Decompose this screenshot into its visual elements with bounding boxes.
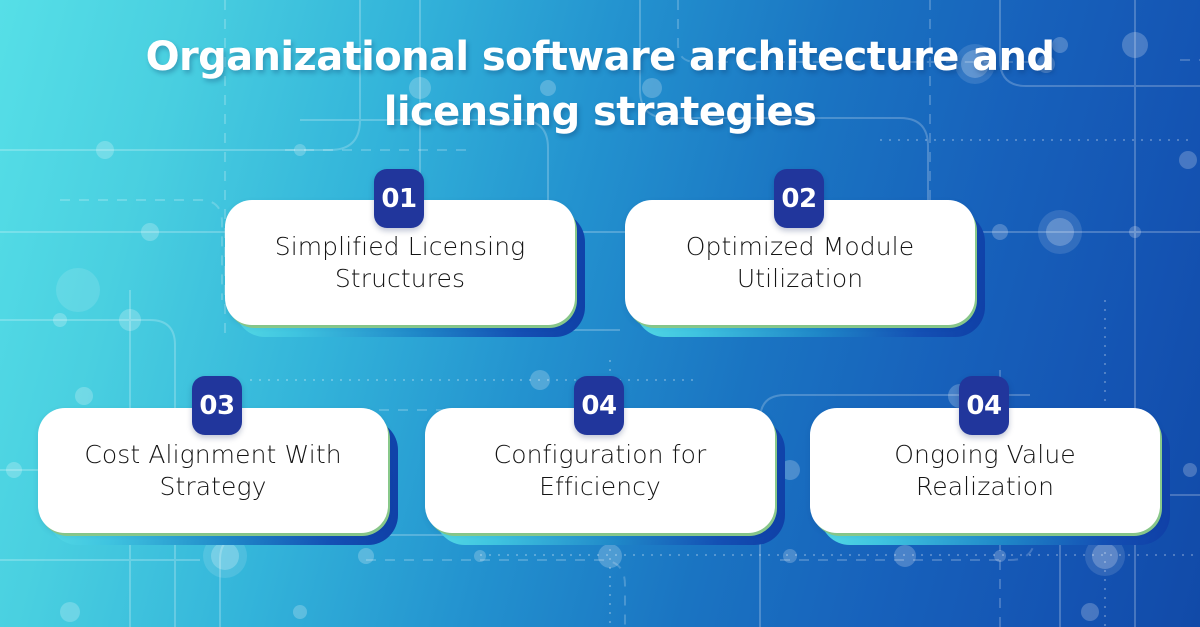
card-label: Ongoing Value Realization [810, 439, 1160, 503]
page-title: Organizational software architecture and… [0, 30, 1200, 140]
card-number-badge: 01 [374, 169, 424, 228]
card-label: Simplified Licensing Structures [225, 231, 575, 295]
card-label: Optimized Module Utilization [625, 231, 975, 295]
card-number-label: 04 [581, 393, 616, 419]
card-number-badge: 04 [574, 376, 624, 435]
title-line-2: licensing strategies [0, 85, 1200, 140]
title-line-1: Organizational software architecture and [0, 30, 1200, 85]
card-number-label: 01 [381, 186, 416, 212]
infographic-canvas: Organizational software architecture and… [0, 0, 1200, 627]
card-number-label: 04 [966, 393, 1001, 419]
card-label: Cost Alignment With Strategy [38, 439, 388, 503]
card-number-label: 03 [199, 393, 234, 419]
card-number-label: 02 [781, 186, 816, 212]
card-number-badge: 02 [774, 169, 824, 228]
card-label: Configuration for Efficiency [425, 439, 775, 503]
card-number-badge: 03 [192, 376, 242, 435]
card-number-badge: 04 [959, 376, 1009, 435]
